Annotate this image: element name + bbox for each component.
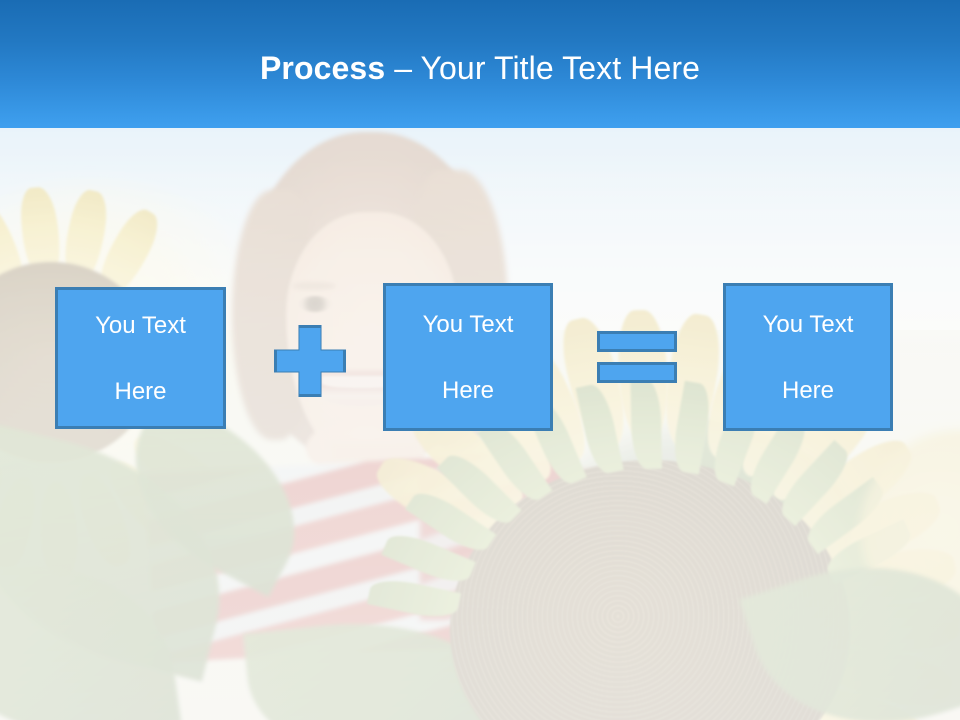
title-bold-part: Process	[260, 50, 385, 86]
process-box-2[interactable]: You TextHere	[383, 283, 553, 431]
equals-icon-bottom-bar	[597, 362, 677, 383]
process-box-3[interactable]: You TextHere	[723, 283, 893, 431]
equals-icon-top-bar	[597, 331, 677, 352]
header-bar: Process – Your Title Text Here	[0, 0, 960, 128]
process-box-1-text: You TextHere	[58, 309, 223, 408]
process-box-3-text: You TextHere	[726, 308, 890, 407]
child-eye-left	[298, 296, 332, 312]
slide: Process – Your Title Text Here You TextH…	[0, 0, 960, 720]
process-box-1[interactable]: You TextHere	[55, 287, 226, 429]
child-brow-left	[292, 282, 336, 290]
title-regular-part: Your Title Text Here	[421, 50, 700, 86]
page-title: Process – Your Title Text Here	[0, 48, 960, 88]
process-box-2-text: You TextHere	[386, 308, 550, 407]
title-separator: –	[385, 50, 420, 86]
